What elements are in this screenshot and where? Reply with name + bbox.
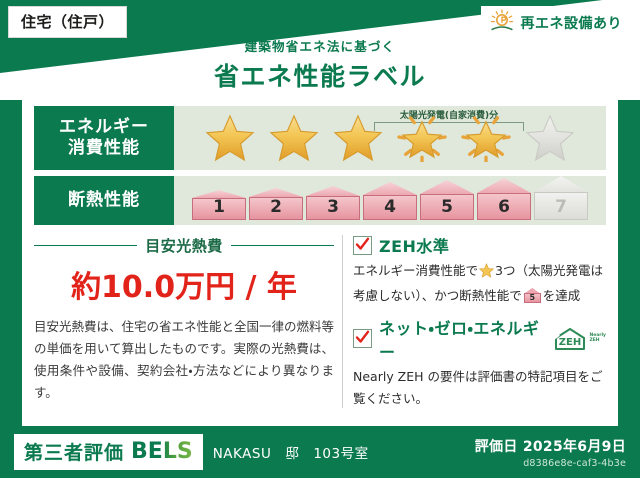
- energy-star-panel: 太陽光発電(自家消費)分: [174, 106, 606, 170]
- cost-heading-label: 目安光熱費: [145, 235, 223, 256]
- renewable-energy-label: 再エネ設備あり: [521, 13, 623, 33]
- star-3: [327, 106, 389, 164]
- evaluation-date: 評価日 2025年6月9日: [475, 436, 626, 456]
- zeh-standard-body: エネルギー消費性能で3つ（太陽光発電は考慮しない）、かつ断熱性能で5を達成: [353, 260, 606, 307]
- zeh-item-standard: ZEH水準 エネルギー消費性能で3つ（太陽光発電は考慮しない）、かつ断熱性能で5…: [353, 233, 606, 307]
- insulation-level-1: 1: [192, 190, 246, 220]
- cost-note: 目安光熱費は、住宅の省エネ性能と全国一律の燃料等の単価を用いて算出したものです。…: [34, 316, 334, 404]
- insulation-level-2: 2: [249, 188, 303, 220]
- insulation-level-4: 4: [363, 182, 417, 220]
- rule-right: [231, 245, 334, 246]
- energy-performance-row: エネルギー 消費性能 太陽光発電(自家消費)分: [34, 96, 606, 170]
- insulation-panel: 1 2 3 4 5: [174, 176, 606, 225]
- star-icon: [479, 266, 494, 281]
- star-4-solar: [391, 106, 453, 164]
- zeh-item-net-zero: ネット・ゼロ・エネルギー ZEH Nearly ZEH: [353, 315, 606, 410]
- building-name: NAKASU 邸 103号室: [213, 442, 369, 462]
- cost-value: 約10.0万円 / 年: [34, 262, 334, 306]
- star-1: [199, 106, 261, 164]
- star-2: [263, 106, 325, 164]
- insulation-badge-icon: 5: [524, 288, 541, 303]
- insulation-label: 断熱性能: [34, 176, 174, 225]
- zeh-standard-header: ZEH水準: [353, 233, 606, 257]
- bels-en-label: BELS: [131, 439, 193, 464]
- document-id: d8386e8e-caf3-4b3e: [475, 458, 626, 469]
- zeh-body-text-3: を達成: [543, 288, 581, 303]
- column-divider: [342, 235, 343, 408]
- svg-text:ZEH: ZEH: [559, 337, 581, 348]
- zeh-column: ZEH水準 エネルギー消費性能で3つ（太陽光発電は考慮しない）、かつ断熱性能で5…: [353, 233, 606, 412]
- star-6-empty: [519, 106, 581, 164]
- solar-sun-icon: [489, 9, 515, 37]
- cost-heading: 目安光熱費: [34, 235, 334, 256]
- insulation-rating: 1 2 3 4 5: [192, 176, 588, 223]
- lower-section: 目安光熱費 約10.0万円 / 年 目安光熱費は、住宅の省エネ性能と全国一律の燃…: [34, 233, 606, 412]
- checkmark-icon: [353, 236, 372, 255]
- star-5-solar: [455, 106, 517, 164]
- energy-performance-label: エネルギー 消費性能: [34, 106, 174, 170]
- label-frame: 住宅（住戸） 再エネ設備あり 建築物省エネ法に基づく: [0, 0, 640, 478]
- renewable-energy-badge: 再エネ設備あり: [481, 6, 633, 41]
- bels-ja-label: 第三者評価: [24, 438, 124, 465]
- insulation-level-7: 7: [534, 176, 588, 220]
- insulation-level-6: 6: [477, 178, 531, 220]
- zeh-netzero-title: ネット・ゼロ・エネルギー: [379, 315, 542, 363]
- insulation-level-3: 3: [306, 186, 360, 220]
- footer: 第三者評価 BELS NAKASU 邸 103号室 評価日 2025年6月9日 …: [0, 426, 640, 478]
- footer-right: 評価日 2025年6月9日 d8386e8e-caf3-4b3e: [475, 436, 626, 469]
- rule-left: [34, 245, 137, 246]
- page-title: 省エネ性能ラベル: [0, 57, 640, 93]
- housing-type-chip: 住宅（住戸）: [8, 6, 127, 38]
- cost-column: 目安光熱費 約10.0万円 / 年 目安光熱費は、住宅の省エネ性能と全国一律の燃…: [34, 233, 338, 412]
- zeh-body-text-1: エネルギー消費性能で: [353, 263, 478, 278]
- zeh-standard-title: ZEH水準: [379, 233, 449, 257]
- zeh-house-logo: ZEH Nearly ZEH: [553, 327, 606, 351]
- main-card: エネルギー 消費性能 太陽光発電(自家消費)分: [22, 96, 618, 426]
- checkmark-icon: [353, 329, 372, 348]
- zeh-netzero-header: ネット・ゼロ・エネルギー ZEH Nearly ZEH: [353, 315, 606, 363]
- insulation-level-5: 5: [420, 180, 474, 220]
- zeh-netzero-body: Nearly ZEH の要件は評価書の特記項目をご覧ください。: [353, 366, 606, 410]
- zeh-logo-sub: Nearly ZEH: [589, 334, 606, 344]
- insulation-row: 断熱性能 1 2 3: [34, 176, 606, 225]
- title-block: 建築物省エネ法に基づく 省エネ性能ラベル: [0, 36, 640, 93]
- bels-badge: 第三者評価 BELS: [14, 434, 203, 470]
